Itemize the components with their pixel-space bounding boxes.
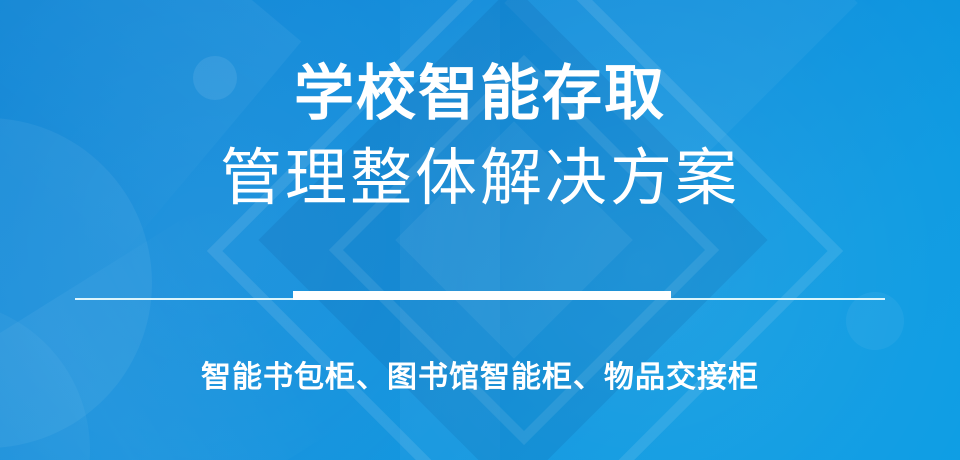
- divider: [0, 290, 960, 304]
- divider-thick-bar: [293, 291, 671, 300]
- banner-tagline: 智能书包柜、图书馆智能柜、物品交接柜: [0, 352, 960, 396]
- banner-title-primary: 学校智能存取: [294, 64, 666, 124]
- banner-title-secondary: 管理整体解决方案: [220, 148, 740, 210]
- promotional-banner: 学校智能存取 管理整体解决方案 智能书包柜、图书馆智能柜、物品交接柜: [0, 0, 960, 460]
